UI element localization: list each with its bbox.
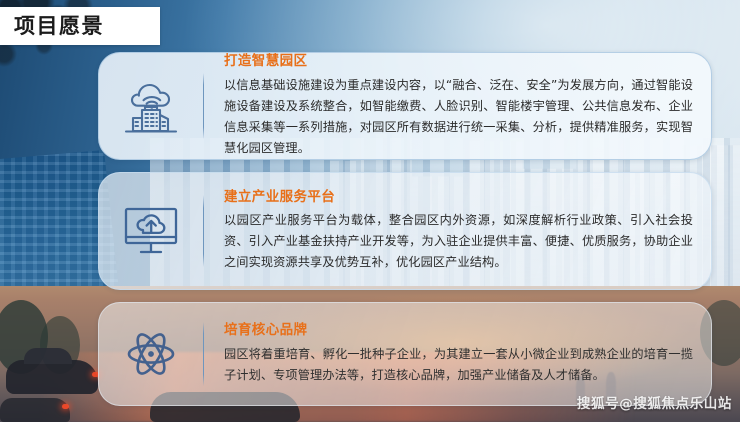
vision-card-1[interactable]: 打造智慧园区 以信息基础设施建设为重点建设内容，以“融合、泛在、安全”为发展方向… <box>98 52 712 160</box>
card-divider <box>203 73 204 139</box>
watermark: 搜狐号@搜狐焦点乐山站 <box>577 392 732 412</box>
card-body: 打造智慧园区 以信息基础设施建设为重点建设内容，以“融合、泛在、安全”为发展方向… <box>224 53 711 158</box>
card-paragraph: 园区将着重培育、孵化一批种子企业，为其建立一套从小微企业到成熟企业的培育一揽子计… <box>224 344 693 386</box>
slide-canvas: 项目愿景 <box>0 0 740 422</box>
card-heading: 培育核心品牌 <box>224 322 693 338</box>
background-car <box>0 398 70 422</box>
smart-building-cloud-wifi-icon <box>99 53 203 159</box>
card-heading: 建立产业服务平台 <box>224 189 693 205</box>
vision-card-2[interactable]: 建立产业服务平台 以园区产业服务平台为载体，整合园区内外资源，如深度解析行业政策… <box>98 172 712 290</box>
card-paragraph: 以信息基础设施建设为重点建设内容，以“融合、泛在、安全”为发展方向，通过智能设施… <box>224 75 693 159</box>
title-banner: 项目愿景 <box>0 7 160 45</box>
background-taillight <box>62 404 69 409</box>
vision-card-3[interactable]: 培育核心品牌 园区将着重培育、孵化一批种子企业，为其建立一套从小微企业到成熟企业… <box>98 302 712 406</box>
card-body: 建立产业服务平台 以园区产业服务平台为载体，整合园区内外资源，如深度解析行业政策… <box>224 189 711 273</box>
card-body: 培育核心品牌 园区将着重培育、孵化一批种子企业，为其建立一套从小微企业到成熟企业… <box>224 322 711 385</box>
card-divider <box>203 195 204 267</box>
page-title: 项目愿景 <box>14 16 104 37</box>
background-car <box>6 360 98 394</box>
card-paragraph: 以园区产业服务平台为载体，整合园区内外资源，如深度解析行业政策、引入社会投资、引… <box>224 210 693 273</box>
card-divider <box>203 322 204 385</box>
monitor-cloud-upload-icon <box>99 173 203 289</box>
atom-icon <box>99 303 203 405</box>
card-heading: 打造智慧园区 <box>224 53 693 69</box>
